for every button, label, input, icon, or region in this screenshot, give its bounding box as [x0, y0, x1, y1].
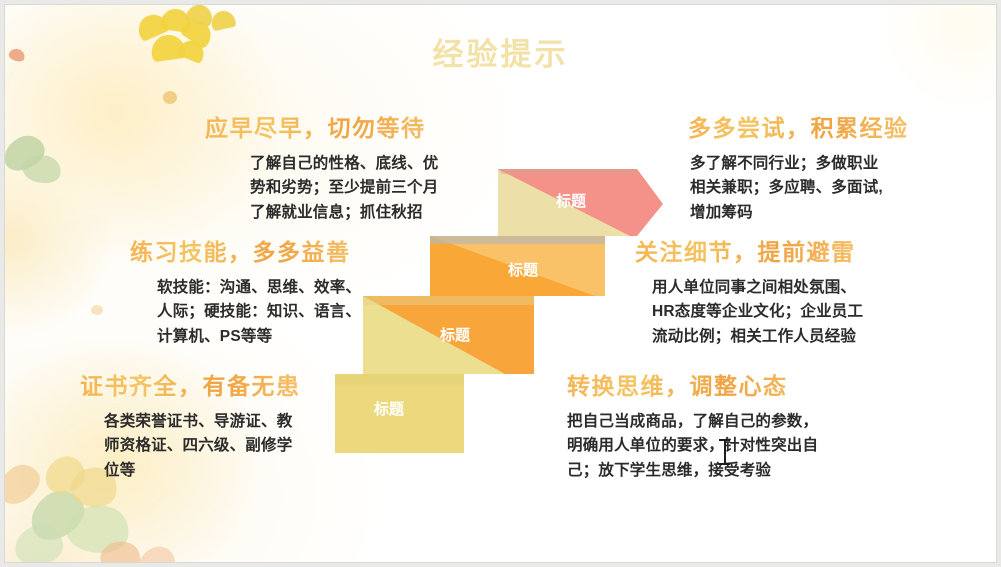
stair-step-3-label: 标题	[439, 326, 471, 344]
section-bottom-left-body: 各类荣誉证书、导游证、教 师资格证、四六级、副修学 位等	[104, 410, 301, 483]
text-cursor-icon	[719, 439, 730, 465]
body-line: 计算机、PS等等	[157, 325, 361, 349]
stair-step-1-label: 标题	[555, 192, 587, 210]
section-top-right-heading: 多多尝试，积累经验	[688, 109, 909, 143]
slide-canvas: 经验提示 标题 标题 标题 标题	[4, 4, 997, 563]
section-middle-left-heading: 练习技能，多多益善	[130, 233, 361, 267]
body-line: 了解就业信息；抓住秋招	[250, 201, 438, 225]
body-line: 位等	[104, 459, 301, 483]
section-bottom-right-heading: 转换思维，调整心态	[567, 367, 818, 401]
body-line: 己；放下学生思维，接受考验	[567, 459, 818, 483]
section-top-left: 应早尽早，切勿等待 了解自己的性格、底线、优 势和劣势；至少提前三个月 了解就业…	[205, 109, 438, 225]
section-top-right: 多多尝试，积累经验 多了解不同行业；多做职业 相关兼职；多应聘、多面试, 增加筹…	[688, 109, 909, 225]
body-line: 了解自己的性格、底线、优	[250, 152, 438, 176]
body-line: 明确用人单位的要求，针对性突出自	[567, 434, 818, 458]
section-bottom-right: 转换思维，调整心态 把自己当成商品，了解自己的参数， 明确用人单位的要求，针对性…	[567, 367, 818, 483]
body-line: 各类荣誉证书、导游证、教	[104, 410, 301, 434]
body-line: 多了解不同行业；多做职业	[690, 152, 909, 176]
body-line: 人际；硬技能：知识、语言、	[157, 300, 361, 324]
body-line: HR态度等企业文化；企业员工	[652, 300, 863, 324]
section-middle-right-heading: 关注细节，提前避雷	[635, 233, 863, 267]
body-line: 相关兼职；多应聘、多面试,	[690, 176, 909, 200]
section-bottom-right-body: 把自己当成商品，了解自己的参数， 明确用人单位的要求，针对性突出自 己；放下学生…	[567, 410, 818, 483]
stair-step-3[interactable]: 标题	[363, 296, 534, 374]
section-top-left-body: 了解自己的性格、底线、优 势和劣势；至少提前三个月 了解就业信息；抓住秋招	[250, 152, 438, 225]
body-line: 软技能：沟通、思维、效率、	[157, 276, 361, 300]
section-middle-right-body: 用人单位同事之间相处氛围、 HR态度等企业文化；企业员工 流动比例；相关工作人员…	[652, 276, 863, 349]
section-bottom-left-heading: 证书齐全，有备无患	[80, 367, 301, 401]
stair-step-1[interactable]: 标题	[498, 169, 663, 236]
section-middle-left: 练习技能，多多益善 软技能：沟通、思维、效率、 人际；硬技能：知识、语言、 计算…	[130, 233, 361, 349]
body-line: 增加筹码	[690, 201, 909, 225]
body-line: 势和劣势；至少提前三个月	[250, 176, 438, 200]
body-line: 流动比例；相关工作人员经验	[652, 325, 863, 349]
body-line: 师资格证、四六级、副修学	[104, 434, 301, 458]
section-top-right-body: 多了解不同行业；多做职业 相关兼职；多应聘、多面试, 增加筹码	[690, 152, 909, 225]
section-middle-left-body: 软技能：沟通、思维、效率、 人际；硬技能：知识、语言、 计算机、PS等等	[157, 276, 361, 349]
section-bottom-left: 证书齐全，有备无患 各类荣誉证书、导游证、教 师资格证、四六级、副修学 位等	[80, 367, 301, 483]
section-middle-right: 关注细节，提前避雷 用人单位同事之间相处氛围、 HR态度等企业文化；企业员工 流…	[635, 233, 863, 349]
stair-step-4-label: 标题	[373, 400, 405, 418]
stair-step-2-label: 标题	[507, 261, 539, 279]
section-top-left-heading: 应早尽早，切勿等待	[205, 109, 438, 143]
body-line: 把自己当成商品，了解自己的参数，	[567, 410, 818, 434]
body-line: 用人单位同事之间相处氛围、	[652, 276, 863, 300]
stair-step-2[interactable]: 标题	[430, 236, 605, 296]
stair-step-4[interactable]: 标题	[335, 374, 464, 453]
